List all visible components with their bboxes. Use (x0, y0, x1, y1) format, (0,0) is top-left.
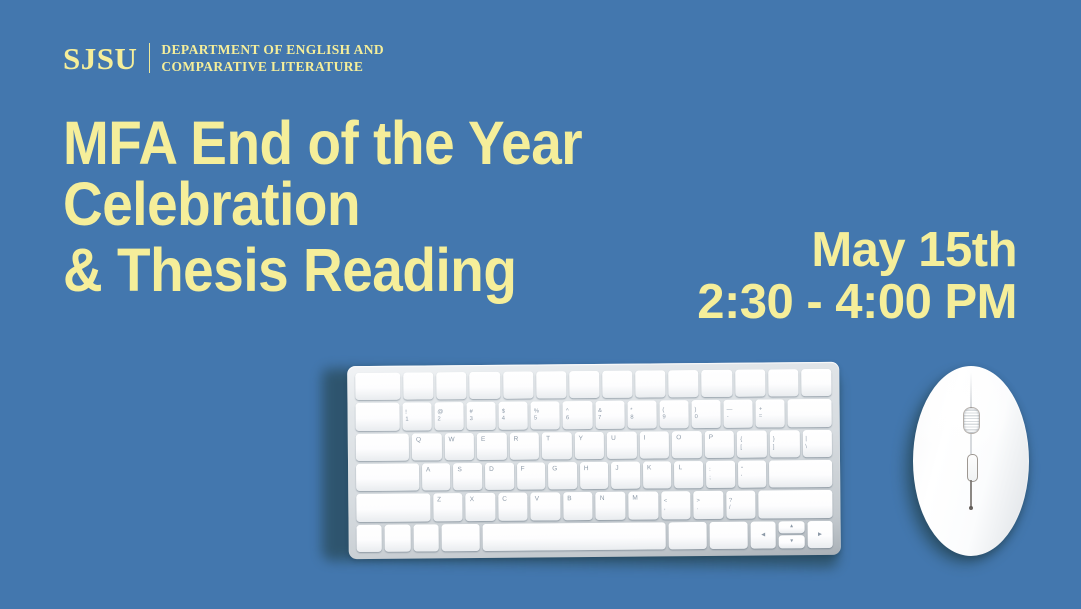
key-legend: E (481, 436, 485, 444)
key-blank[interactable] (668, 522, 706, 550)
key-g[interactable]: G (548, 462, 577, 490)
key-/[interactable]: ?/ (726, 491, 756, 519)
key-x[interactable]: X (466, 493, 496, 521)
key-0[interactable]: )0 (691, 400, 720, 428)
key-legend: O (676, 434, 681, 442)
key-legend: J (615, 465, 618, 472)
key-9[interactable]: (9 (659, 401, 688, 429)
key-7[interactable]: &7 (595, 401, 624, 429)
number-row: !1@2#3$4%5^6&7*8(9)0—-+= (355, 399, 831, 430)
key-blank[interactable] (669, 370, 699, 398)
key-blank[interactable] (788, 399, 832, 427)
key-3[interactable]: #3 (466, 402, 495, 430)
key-legend: !1 (402, 409, 431, 424)
key-h[interactable]: H (580, 462, 609, 490)
key-blank[interactable] (709, 521, 747, 549)
key-blank[interactable] (355, 373, 400, 401)
key-v[interactable]: V (531, 493, 561, 521)
arrow-up-icon[interactable]: ▲ (779, 521, 804, 534)
desk-photo: !1@2#3$4%5^6&7*8(9)0—-+=QWERTYUIOP{[}]|\… (0, 0, 1081, 609)
key-legend: >. (693, 498, 723, 513)
key-legend: I (644, 434, 646, 441)
key-legend: R (514, 435, 519, 443)
key-blank[interactable] (635, 370, 665, 398)
key-i[interactable]: I (640, 431, 670, 459)
key-p[interactable]: P (705, 430, 735, 458)
key-5[interactable]: %5 (531, 402, 560, 430)
key-legend: {[ (737, 437, 767, 452)
key-legend: G (552, 465, 557, 473)
key-blank[interactable] (357, 524, 383, 552)
key-legend: "' (738, 467, 767, 482)
key-legend: )0 (692, 407, 721, 422)
scroll-wheel-icon (964, 408, 979, 433)
key-[[interactable]: {[ (737, 430, 767, 458)
mouse-slot (967, 454, 978, 482)
key-blank[interactable] (355, 403, 399, 431)
mouse-top-seam (971, 372, 972, 410)
key-legend: <, (661, 498, 691, 513)
key-legend: S (457, 466, 461, 474)
key-blank[interactable] (437, 372, 467, 400)
key-u[interactable]: U (607, 431, 637, 459)
key-c[interactable]: C (498, 493, 528, 521)
key-legend: —- (724, 406, 753, 421)
key-blank[interactable] (801, 369, 831, 397)
key-;[interactable]: :; (706, 461, 735, 489)
mouse-dot (969, 506, 973, 510)
function-row (355, 369, 831, 400)
key-legend: P (709, 434, 713, 442)
key-blank[interactable] (442, 524, 480, 552)
key-legend: += (756, 406, 785, 421)
key--[interactable]: —- (724, 400, 753, 428)
key-legend: #3 (467, 409, 496, 424)
key-z[interactable]: Z (433, 493, 463, 521)
key-k[interactable]: K (643, 461, 672, 489)
key-legend: @2 (434, 409, 463, 424)
key-legend: M (632, 495, 637, 503)
key-e[interactable]: E (477, 432, 507, 460)
key-j[interactable]: J (611, 462, 640, 490)
modifier-row: ◄▲▼► (357, 521, 833, 552)
home-row: ASDFGHJKL:;"' (356, 460, 832, 491)
qwerty-row: QWERTYUIOP{[}]|\ (356, 430, 832, 461)
key-t[interactable]: T (542, 432, 572, 460)
key-\[interactable]: |\ (802, 430, 832, 458)
key-legend: :; (706, 467, 735, 482)
event-poster: SJSU DEPARTMENT OF ENGLISH AND COMPARATI… (0, 0, 1081, 609)
key-][interactable]: }] (770, 430, 800, 458)
key-legend: W (448, 436, 454, 444)
key-.[interactable]: >. (693, 491, 723, 519)
key-blank[interactable] (702, 370, 732, 398)
key-legend: B (567, 496, 571, 504)
key-blank[interactable] (483, 522, 666, 551)
key-legend: N (600, 495, 605, 503)
key-blank[interactable] (536, 371, 566, 399)
key-=[interactable]: += (756, 400, 785, 428)
key-blank[interactable] (356, 494, 430, 522)
key-legend: F (521, 466, 525, 474)
key-legend: }] (770, 436, 800, 451)
key-legend: L (679, 464, 683, 472)
shift-row: ZXCVBNM<,>.?/ (356, 490, 832, 521)
key-l[interactable]: L (674, 461, 703, 489)
key-legend: K (647, 464, 651, 472)
mouse-mid-seam (971, 434, 972, 454)
key-legend: &7 (595, 408, 624, 423)
arrow-right-icon[interactable]: ► (807, 521, 833, 549)
keyboard-rows: !1@2#3$4%5^6&7*8(9)0—-+=QWERTYUIOP{[}]|\… (355, 369, 833, 552)
key-legend: Y (579, 435, 583, 443)
key-legend: Q (416, 436, 421, 444)
key-blank[interactable] (503, 372, 533, 400)
key-legend: (9 (659, 407, 688, 422)
key-legend: *8 (627, 407, 656, 422)
key-'[interactable]: "' (738, 460, 767, 488)
key-blank[interactable] (385, 524, 411, 552)
key-legend: Z (437, 497, 441, 505)
key-m[interactable]: M (628, 492, 658, 520)
key-blank[interactable] (356, 433, 409, 461)
key-legend: ?/ (726, 497, 756, 512)
key-blank[interactable] (602, 371, 632, 399)
key-6[interactable]: ^6 (563, 401, 592, 429)
key-legend: T (546, 435, 550, 443)
key-2[interactable]: @2 (434, 402, 463, 430)
key-legend: ^6 (563, 408, 592, 423)
arrow-down-icon[interactable]: ▼ (779, 535, 804, 548)
key-w[interactable]: W (444, 433, 474, 461)
key-blank[interactable] (403, 372, 433, 400)
key-blank[interactable] (768, 369, 798, 397)
key-1[interactable]: !1 (402, 403, 431, 431)
key-s[interactable]: S (453, 463, 482, 491)
key-legend: H (584, 465, 589, 473)
key-8[interactable]: *8 (627, 401, 656, 429)
key-legend: C (502, 496, 507, 504)
arrow-updown-cluster: ▲▼ (779, 521, 805, 549)
key-b[interactable]: B (563, 492, 593, 520)
key-blank[interactable] (413, 524, 439, 552)
key-legend: X (470, 496, 474, 504)
key-blank[interactable] (769, 460, 832, 488)
key-blank[interactable] (569, 371, 599, 399)
mouse-stem (970, 480, 972, 508)
key-a[interactable]: A (422, 463, 451, 491)
key-4[interactable]: $4 (499, 402, 528, 430)
key-f[interactable]: F (517, 462, 546, 490)
key-legend: A (426, 466, 430, 474)
keyboard: !1@2#3$4%5^6&7*8(9)0—-+=QWERTYUIOP{[}]|\… (347, 362, 841, 559)
key-legend: U (611, 434, 616, 442)
key-,[interactable]: <, (661, 491, 691, 519)
key-n[interactable]: N (596, 492, 626, 520)
key-y[interactable]: Y (575, 432, 605, 460)
arrow-left-icon[interactable]: ◄ (750, 521, 776, 549)
key-legend: V (535, 496, 539, 504)
key-blank[interactable] (758, 490, 832, 518)
key-blank[interactable] (735, 370, 765, 398)
key-legend: $4 (499, 408, 528, 423)
key-legend: %5 (531, 408, 560, 423)
key-d[interactable]: D (485, 463, 514, 491)
key-blank[interactable] (356, 464, 419, 492)
key-o[interactable]: O (672, 431, 702, 459)
key-legend: |\ (802, 436, 832, 451)
key-legend: D (489, 466, 494, 474)
key-blank[interactable] (470, 372, 500, 400)
key-r[interactable]: R (510, 432, 540, 460)
mouse (913, 366, 1029, 556)
key-q[interactable]: Q (412, 433, 442, 461)
